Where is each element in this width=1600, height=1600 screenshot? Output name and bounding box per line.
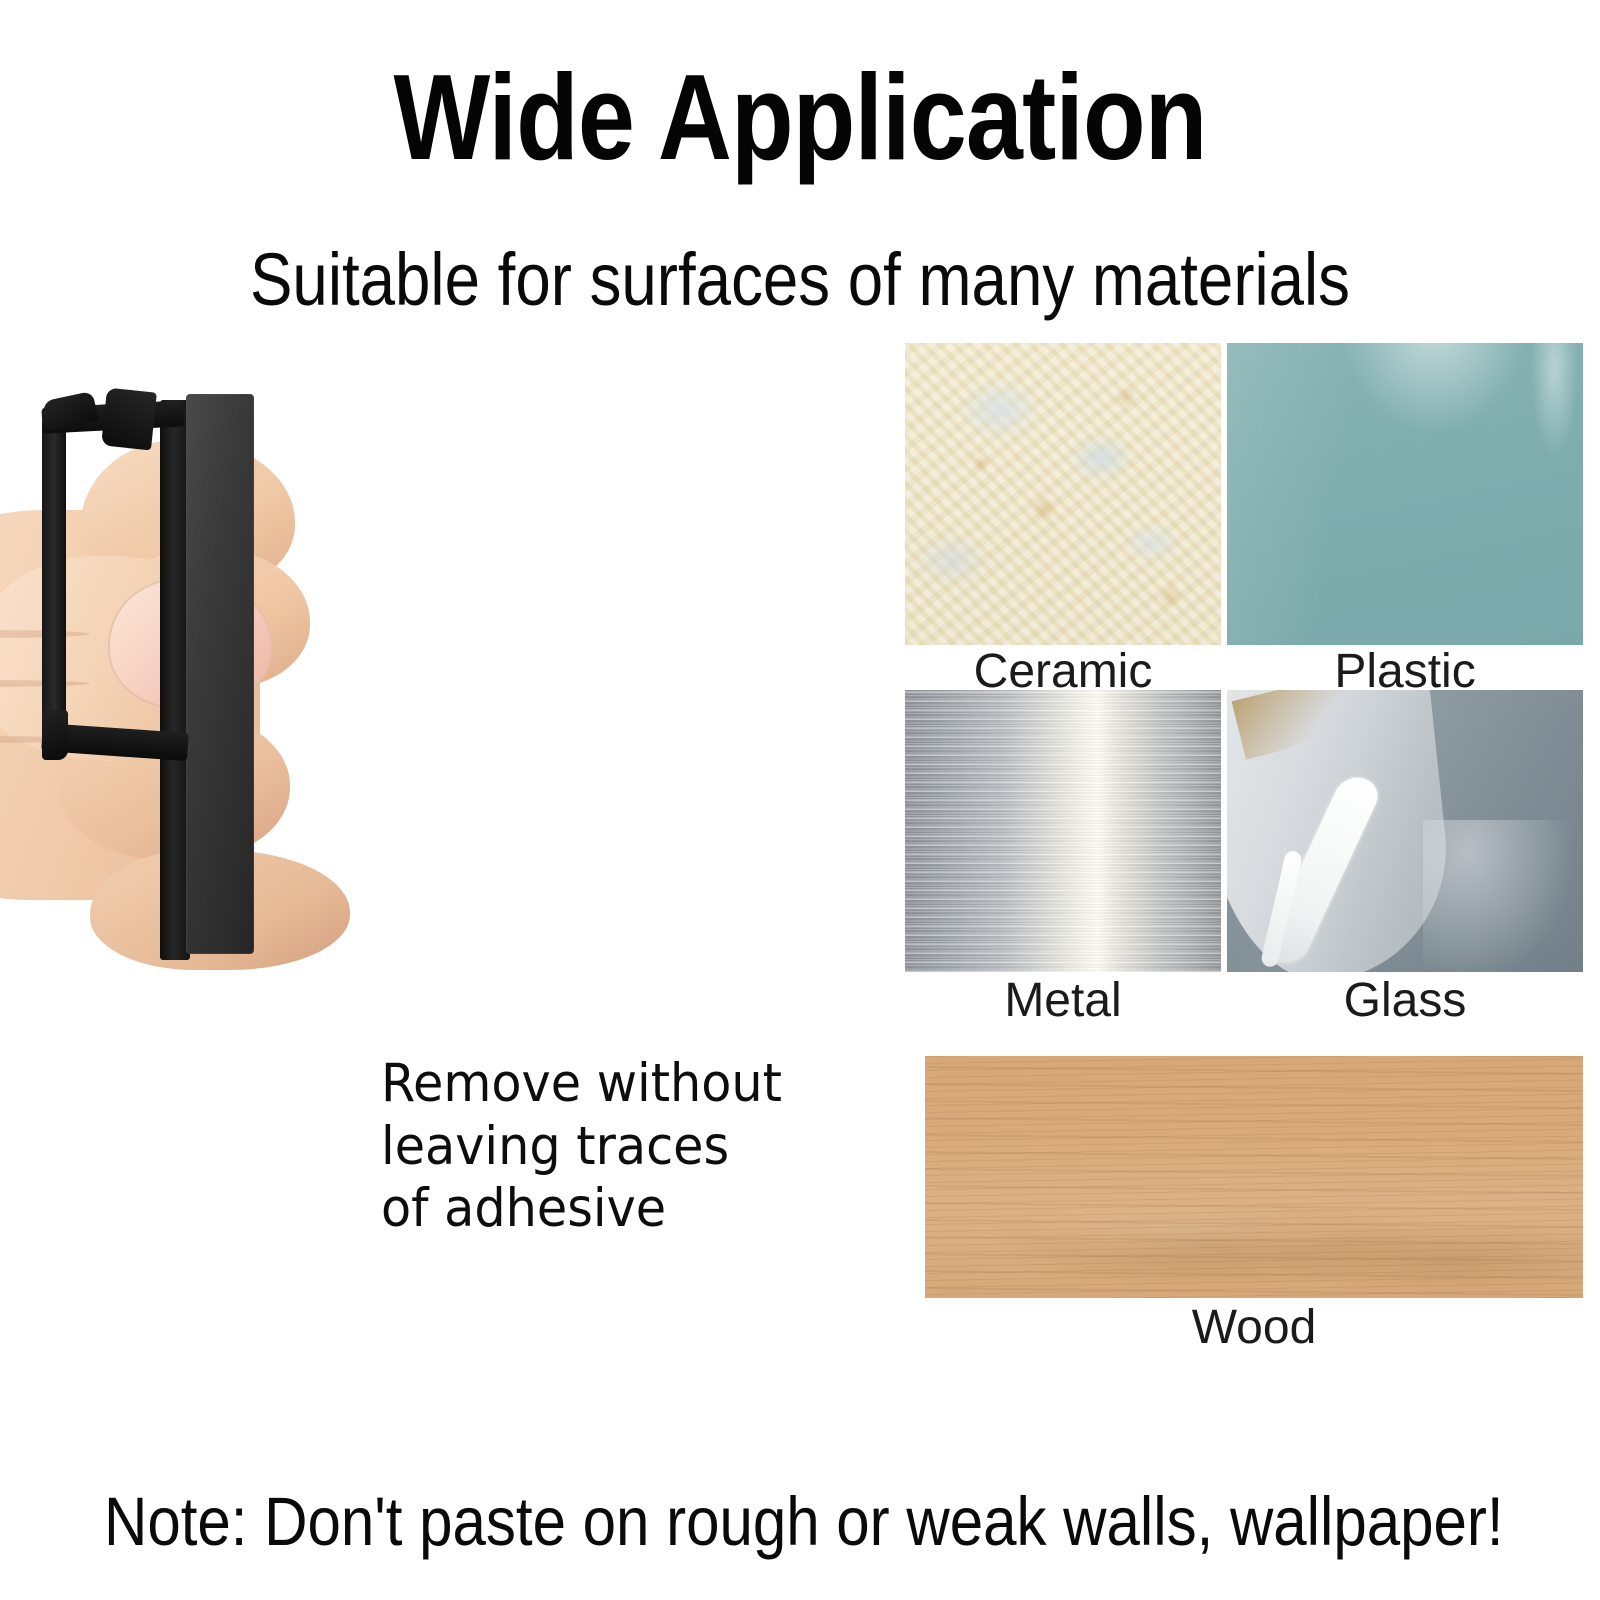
infographic-page: Wide Application Suitable for surfaces o… [0, 0, 1600, 1600]
swatch-ceramic [905, 343, 1221, 645]
material-label-ceramic: Ceramic [905, 648, 1221, 696]
material-label-metal: Metal [905, 977, 1221, 1025]
material-label-plastic: Plastic [1227, 648, 1583, 696]
swatch-wood [925, 1056, 1583, 1298]
glass-soft-reflection [1423, 820, 1573, 972]
remove-adhesive-caption: Remove without leaving traces of adhesiv… [381, 1053, 865, 1241]
clip-adhesive-pad [186, 394, 254, 954]
caption-line-2: leaving traces [381, 1116, 865, 1179]
swatch-glass [1227, 690, 1583, 972]
page-subtitle: Suitable for surfaces of many materials [112, 243, 1488, 317]
material-label-glass: Glass [1227, 977, 1583, 1025]
clip-hook-inner [101, 388, 157, 451]
footer-note: Note: Don't paste on rough or weak walls… [104, 1487, 1496, 1556]
swatch-plastic [1227, 343, 1583, 645]
material-label-wood: Wood [925, 1304, 1583, 1352]
caption-line-3: of adhesive [381, 1178, 865, 1241]
clip-vertical-spine [42, 420, 66, 740]
caption-line-1: Remove without [381, 1053, 865, 1116]
clip-lower-lip [42, 710, 68, 760]
product-photo [0, 380, 460, 1080]
page-title: Wide Application [128, 56, 1472, 178]
swatch-metal [905, 690, 1221, 972]
